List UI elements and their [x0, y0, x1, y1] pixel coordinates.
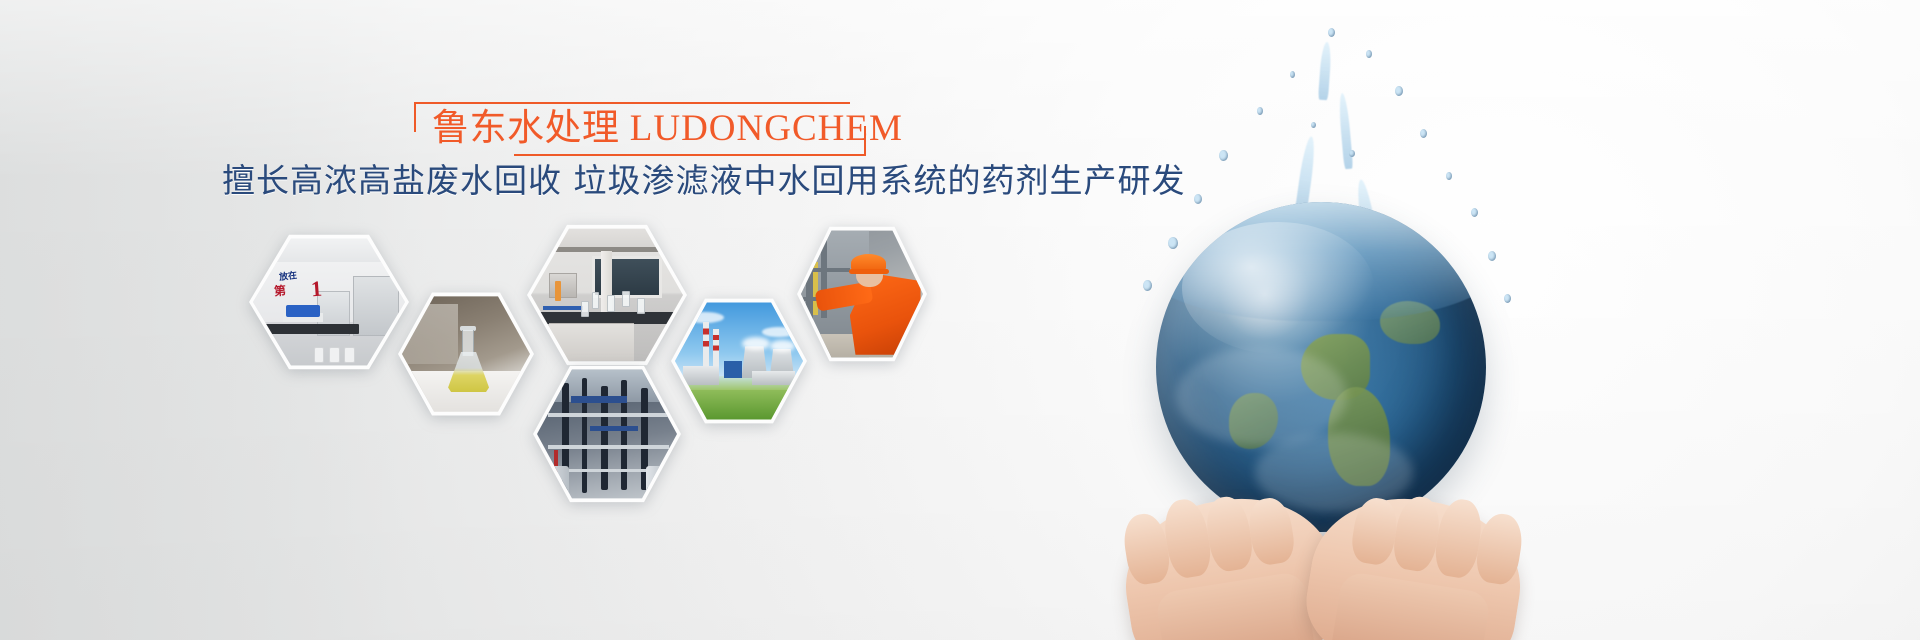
hex-photo-clip	[531, 226, 683, 364]
hexagon-photo-cluster: 放在 第 1	[0, 0, 1000, 540]
hex-flask	[398, 290, 534, 418]
laboratory-room-photo: 放在 第 1	[253, 236, 405, 368]
worker-orange-uniform-photo	[801, 228, 923, 360]
cupped-hands	[1108, 458, 1538, 640]
hex-photo-clip: 放在 第 1	[253, 236, 405, 368]
hex-photo-clip	[402, 294, 530, 414]
wall-slogan-number: 1	[310, 275, 323, 302]
hex-worker	[797, 224, 927, 364]
hex-lab-room: 放在 第 1	[249, 232, 409, 372]
hex-membrane-plant	[533, 363, 681, 505]
water-globe-illustration	[1048, 18, 1608, 640]
wall-slogan-top: 放在	[278, 268, 297, 283]
hex-photo-clip	[675, 300, 803, 422]
lab-bench-glassware-photo	[531, 226, 683, 364]
hero-banner: 鲁东水处理 LUDONGCHEM 擅长高浓高盐废水回收 垃圾渗滤液中水回用系统的…	[0, 0, 1920, 640]
hex-photo-clip	[537, 367, 677, 501]
power-plant-green-field-photo	[675, 300, 803, 422]
hex-power-plant	[671, 296, 807, 426]
hex-lab-bench	[527, 222, 687, 368]
hex-photo-clip	[801, 228, 923, 360]
membrane-piping-plant-photo	[537, 367, 677, 501]
wall-slogan-mid: 第	[274, 282, 287, 300]
right-hand	[1298, 485, 1532, 640]
yellow-liquid-flask-photo	[402, 294, 530, 414]
